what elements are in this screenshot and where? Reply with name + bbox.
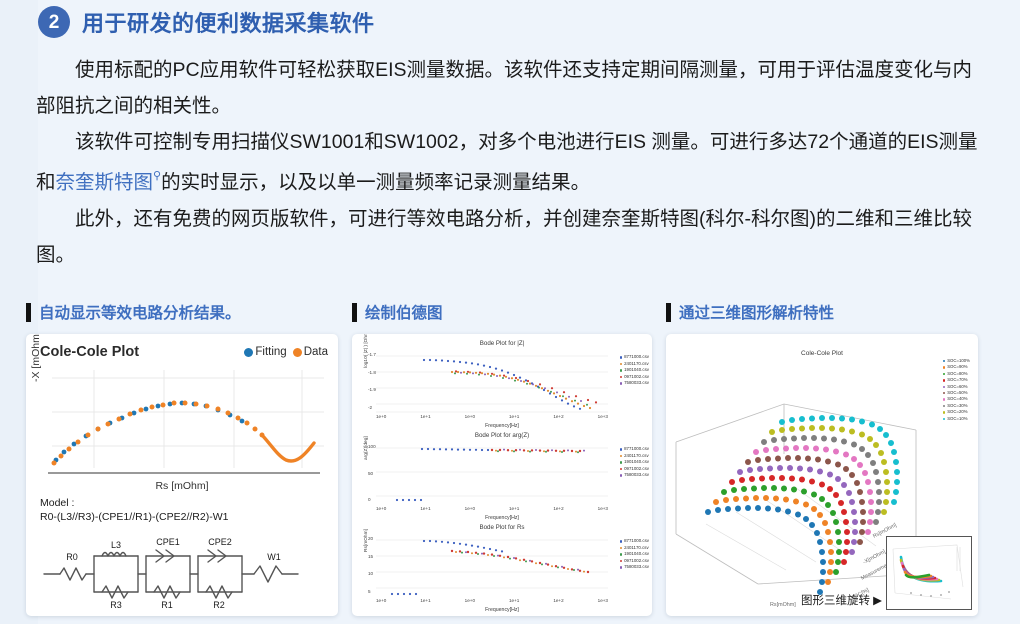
bode-subplot-rs: Bode Plot for Rs Rs[mOhm] 2015105 <box>352 522 652 614</box>
section-heading: 2 用于研发的便利数据采集软件 <box>38 6 375 38</box>
paragraph-3: 此外，还有免费的网页版软件，可进行等效电路分析，并创建奈奎斯特图(科尔-科尔图)… <box>36 201 988 273</box>
section-number-badge: 2 <box>38 6 70 38</box>
rotated-view-canvas <box>887 537 970 608</box>
legend-dot-icon <box>620 382 623 385</box>
legend-item: 1901040.csv <box>620 367 649 374</box>
body-copy: 使用标配的PC应用软件可轻松获取EIS测量数据。该软件还支持定期间隔测量，可用于… <box>36 52 988 273</box>
legend-dot-icon <box>620 540 623 543</box>
cole-cole-xaxis <box>48 472 320 474</box>
bode-subplot-z: Bode Plot for |Z| log10( |Z| ) [Ohm] -1.… <box>352 338 652 430</box>
legend-dot-icon <box>620 566 623 569</box>
equivalent-circuit-diagram: R0 L3 R3 CPE1 R1 CPE2 R2 W1 <box>34 530 330 612</box>
bode-subplot-2-xlabel: Frequency[Hz] <box>352 515 652 521</box>
legend-dot-icon <box>620 553 623 556</box>
circuit-label-l3: L3 <box>111 540 121 550</box>
rotated-view-thumbnail[interactable] <box>886 536 972 610</box>
panel-1-card: Cole-Cole Plot Fitting Data -X [mOhm] <box>26 334 338 616</box>
page-root: 2 用于研发的便利数据采集软件 使用标配的PC应用软件可轻松获取EIS测量数据。… <box>0 0 1020 624</box>
bode-subplot-1-yticks: -1.7-1.8-1.9-2 <box>368 352 376 410</box>
cole-cole-legend: Fitting Data <box>244 346 328 358</box>
accent-bar-icon <box>352 303 357 322</box>
bode-subplot-3-legend: 8771000.csv 2401170.csv 1901040.csv 0971… <box>620 538 649 571</box>
panel-2-card: Bode Plot for |Z| log10( |Z| ) [Ohm] -1.… <box>352 334 652 616</box>
accent-bar-icon <box>666 303 671 322</box>
legend-dot-icon <box>620 369 623 372</box>
panel-1-title: 自动显示等效电路分析结果。 <box>39 301 241 323</box>
three-d-legend: SOC=100% SOC=90% SOC=80% SOC=70% SOC=60%… <box>943 358 970 422</box>
paragraph-2: 该软件可控制专用扫描仪SW1001和SW1002，对多个电池进行EIS 测量。可… <box>36 124 988 201</box>
legend-item: 7580033.csv <box>620 564 649 571</box>
legend-item: 0971002.csv <box>620 374 649 381</box>
circuit-label-w1: W1 <box>267 552 281 562</box>
legend-item: 1901040.csv <box>620 551 649 558</box>
legend-item-fitting: Fitting <box>244 346 286 358</box>
bode-subplot-1-title: Bode Plot for |Z| <box>352 340 652 347</box>
model-label: Model : <box>40 496 228 510</box>
bode-subplot-3-title: Bode Plot for Rs <box>352 524 652 531</box>
legend-item: 2401170.csv <box>620 361 649 368</box>
search-icon[interactable]: ⚲ <box>153 170 161 182</box>
legend-item: SOC=10% <box>943 416 970 422</box>
cole-cole-chart-title: Cole-Cole Plot <box>40 344 139 360</box>
circuit-label-cpe1: CPE1 <box>156 537 180 547</box>
legend-item: 7580033.csv <box>620 380 649 387</box>
model-block: Model : R0-(L3//R3)-(CPE1//R1)-(CPE2//R2… <box>40 496 228 524</box>
legend-label-data: Data <box>304 346 328 358</box>
circuit-label-cpe2: CPE2 <box>208 537 232 547</box>
three-d-chart-title: Cole-Cole Plot <box>666 350 978 357</box>
legend-item: 2401170.csv <box>620 453 649 460</box>
panel-2-header: 绘制伯德图 <box>352 300 652 324</box>
paragraph-1: 使用标配的PC应用软件可轻松获取EIS测量数据。该软件还支持定期间隔测量，可用于… <box>36 52 988 124</box>
legend-item: 8771000.csv <box>620 538 649 545</box>
legend-item: 8771000.csv <box>620 354 649 361</box>
legend-label-fitting: Fitting <box>255 346 286 358</box>
paragraph-2-tail: 的实时显示，以及以单一测量频率记录测量结果。 <box>161 172 590 194</box>
legend-dot-icon <box>620 547 623 550</box>
legend-dot-icon <box>620 363 623 366</box>
bode-subplot-argz: Bode Plot for arg(Z) arg(Z)[deg] 100500 <box>352 430 652 522</box>
legend-dot-icon <box>943 379 946 382</box>
axis-annotation-4: Rs[mOhm] <box>770 602 796 608</box>
legend-dot-icon <box>293 348 302 357</box>
legend-item: 7580033.csv <box>620 472 649 479</box>
bode-subplot-2-xticks: 1e+01e+11e+01e+11e+21e+3 <box>376 506 608 511</box>
panel-row: 自动显示等效电路分析结果。 Cole-Cole Plot Fitting Dat… <box>26 300 994 620</box>
legend-dot-icon <box>620 461 623 464</box>
bode-subplot-1-xticks: 1e+01e+11e+01e+11e+21e+3 <box>376 414 608 419</box>
legend-dot-icon <box>943 411 946 414</box>
panel-1-header: 自动显示等效电路分析结果。 <box>26 300 338 324</box>
legend-dot-icon <box>943 392 946 395</box>
legend-dot-icon <box>620 448 623 451</box>
legend-dot-icon <box>943 398 946 401</box>
panel-3-header: 通过三维图形解析特性 <box>666 300 978 324</box>
panel-3d-analysis: 通过三维图形解析特性 Cole-Cole Plot <box>666 300 978 620</box>
page-title: 用于研发的便利数据采集软件 <box>82 6 375 38</box>
bode-subplot-3-yticks: 2015105 <box>368 536 373 594</box>
circuit-label-r3: R3 <box>110 600 122 610</box>
accent-bar-icon <box>26 303 31 322</box>
panel-3-card: Cole-Cole Plot <box>666 334 978 616</box>
legend-dot-icon <box>620 560 623 563</box>
panel-2-title: 绘制伯德图 <box>365 301 443 323</box>
bode-plot-stack: Bode Plot for |Z| log10( |Z| ) [Ohm] -1.… <box>352 334 652 616</box>
legend-dot-icon <box>620 455 623 458</box>
legend-dot-icon <box>620 376 623 379</box>
legend-dot-icon <box>943 405 946 408</box>
legend-item: 8771000.csv <box>620 446 649 453</box>
bode-subplot-3-xticks: 1e+01e+11e+01e+11e+21e+3 <box>376 598 608 603</box>
legend-dot-icon <box>943 373 946 376</box>
circuit-label-r2: R2 <box>213 600 225 610</box>
nyquist-link[interactable]: 奈奎斯特图 <box>56 172 154 194</box>
panel-equivalent-circuit: 自动显示等效电路分析结果。 Cole-Cole Plot Fitting Dat… <box>26 300 338 620</box>
legend-dot-icon <box>620 474 623 477</box>
bode-subplot-2-title: Bode Plot for arg(Z) <box>352 432 652 439</box>
circuit-label-r1: R1 <box>161 600 173 610</box>
model-formula: R0-(L3//R3)-(CPE1//R1)-(CPE2//R2)-W1 <box>40 510 228 524</box>
legend-dot-icon <box>620 468 623 471</box>
legend-item: 1901040.csv <box>620 459 649 466</box>
panel-3-title: 通过三维图形解析特性 <box>679 301 834 323</box>
rotate-caption[interactable]: 图形三维旋转 ▶ <box>801 592 882 608</box>
legend-dot-icon <box>244 348 253 357</box>
legend-dot-icon <box>943 418 946 421</box>
legend-item: 2401170.csv <box>620 545 649 552</box>
legend-dot-icon <box>943 366 946 369</box>
legend-dot-icon <box>620 356 623 359</box>
panel-bode-plots: 绘制伯德图 Bode Plot for |Z| log10( |Z| ) [Oh… <box>352 300 652 620</box>
bode-subplot-1-legend: 8771000.csv 2401170.csv 1901040.csv 0971… <box>620 354 649 387</box>
legend-item: 0971002.csv <box>620 558 649 565</box>
legend-dot-icon <box>943 386 946 389</box>
bode-subplot-2-yticks: 100500 <box>368 444 376 502</box>
bode-subplot-3-xlabel: Frequency[Hz] <box>352 607 652 613</box>
legend-dot-icon <box>943 360 946 363</box>
circuit-label-r0: R0 <box>66 552 78 562</box>
cole-cole-plot <box>34 364 330 474</box>
bode-subplot-1-xlabel: Frequency[Hz] <box>352 423 652 429</box>
legend-item: 0971002.csv <box>620 466 649 473</box>
bode-subplot-2-legend: 8771000.csv 2401170.csv 1901040.csv 0971… <box>620 446 649 479</box>
cole-cole-xlabel: Rs [mOhm] <box>26 480 338 492</box>
legend-item-data: Data <box>293 346 328 358</box>
